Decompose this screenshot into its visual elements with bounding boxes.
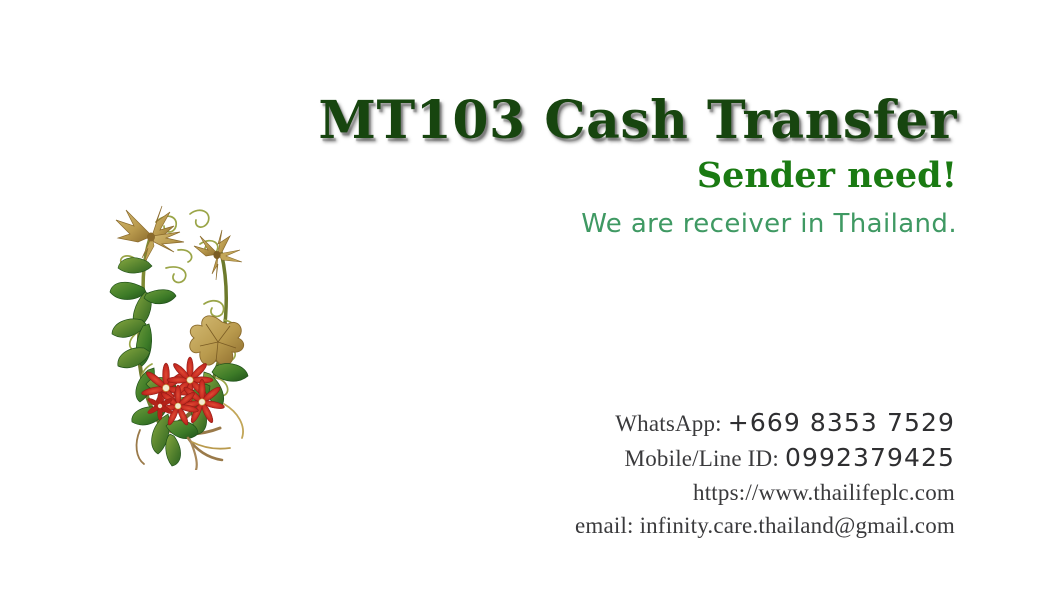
page-subtitle: Sender need! (0, 154, 957, 198)
website-url[interactable]: https://www.thailifeplc.com (0, 476, 955, 509)
whatsapp-number[interactable]: +669 8353 7529 (728, 408, 955, 437)
contact-details-block: WhatsApp: +669 8353 7529 Mobile/Line ID:… (0, 406, 955, 542)
whatsapp-label: WhatsApp: (615, 411, 722, 436)
headline-block: MT103 Cash Transfer Sender need! We are … (0, 92, 957, 241)
mobile-line-id-label: Mobile/Line ID: (625, 446, 779, 471)
tagline-text: We are receiver in Thailand. (0, 207, 957, 241)
mobile-line-id-number[interactable]: 0992379425 (785, 443, 955, 472)
mobile-line: Mobile/Line ID: 0992379425 (0, 441, 955, 476)
whatsapp-line: WhatsApp: +669 8353 7529 (0, 406, 955, 441)
dried-maple-leaf (190, 316, 244, 365)
email-address[interactable]: email: infinity.care.thailand@gmail.com (0, 509, 955, 542)
business-card-canvas: MT103 Cash Transfer Sender need! We are … (0, 0, 1063, 600)
page-title: MT103 Cash Transfer (0, 92, 957, 150)
